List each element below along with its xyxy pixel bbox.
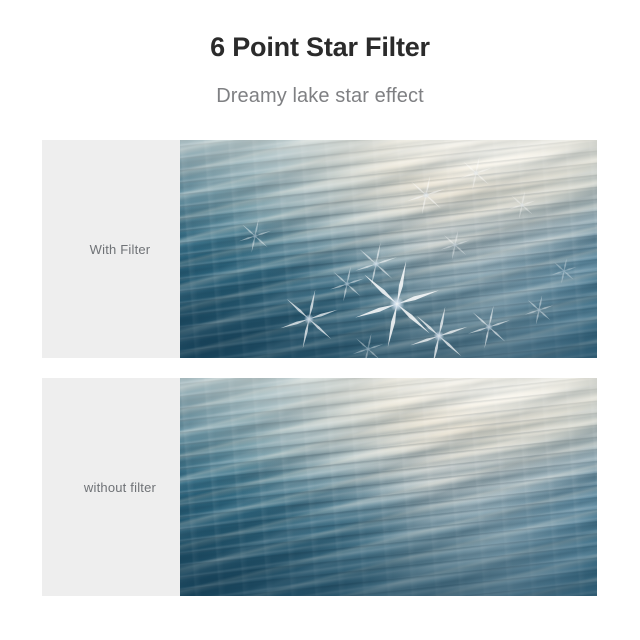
photo-with-filter: Sunlit lake water surface with six point… bbox=[180, 140, 597, 358]
deep-water-overlay bbox=[180, 483, 597, 596]
page-subtitle: Dreamy lake star effect bbox=[0, 84, 640, 108]
label-with-filter: With Filter bbox=[72, 242, 151, 257]
comparison-row-without-filter: without filter Sunlit lake water surface… bbox=[42, 378, 597, 596]
product-comparison-graphic: 6 Point Star Filter Dreamy lake star eff… bbox=[0, 0, 640, 640]
sun-glow-overlay bbox=[180, 140, 597, 240]
deep-water-overlay bbox=[180, 245, 597, 358]
comparison-row-with-filter: With Filter Sunlit lake water surface wi… bbox=[42, 140, 597, 358]
photo-without-filter: Sunlit lake water surface without star f… bbox=[180, 378, 597, 596]
sun-glow-overlay bbox=[180, 378, 597, 478]
page-title: 6 Point Star Filter bbox=[0, 31, 640, 63]
label-without-filter: without filter bbox=[66, 480, 156, 495]
label-panel-without-filter: without filter bbox=[42, 378, 180, 596]
label-panel-with-filter: With Filter bbox=[42, 140, 180, 358]
